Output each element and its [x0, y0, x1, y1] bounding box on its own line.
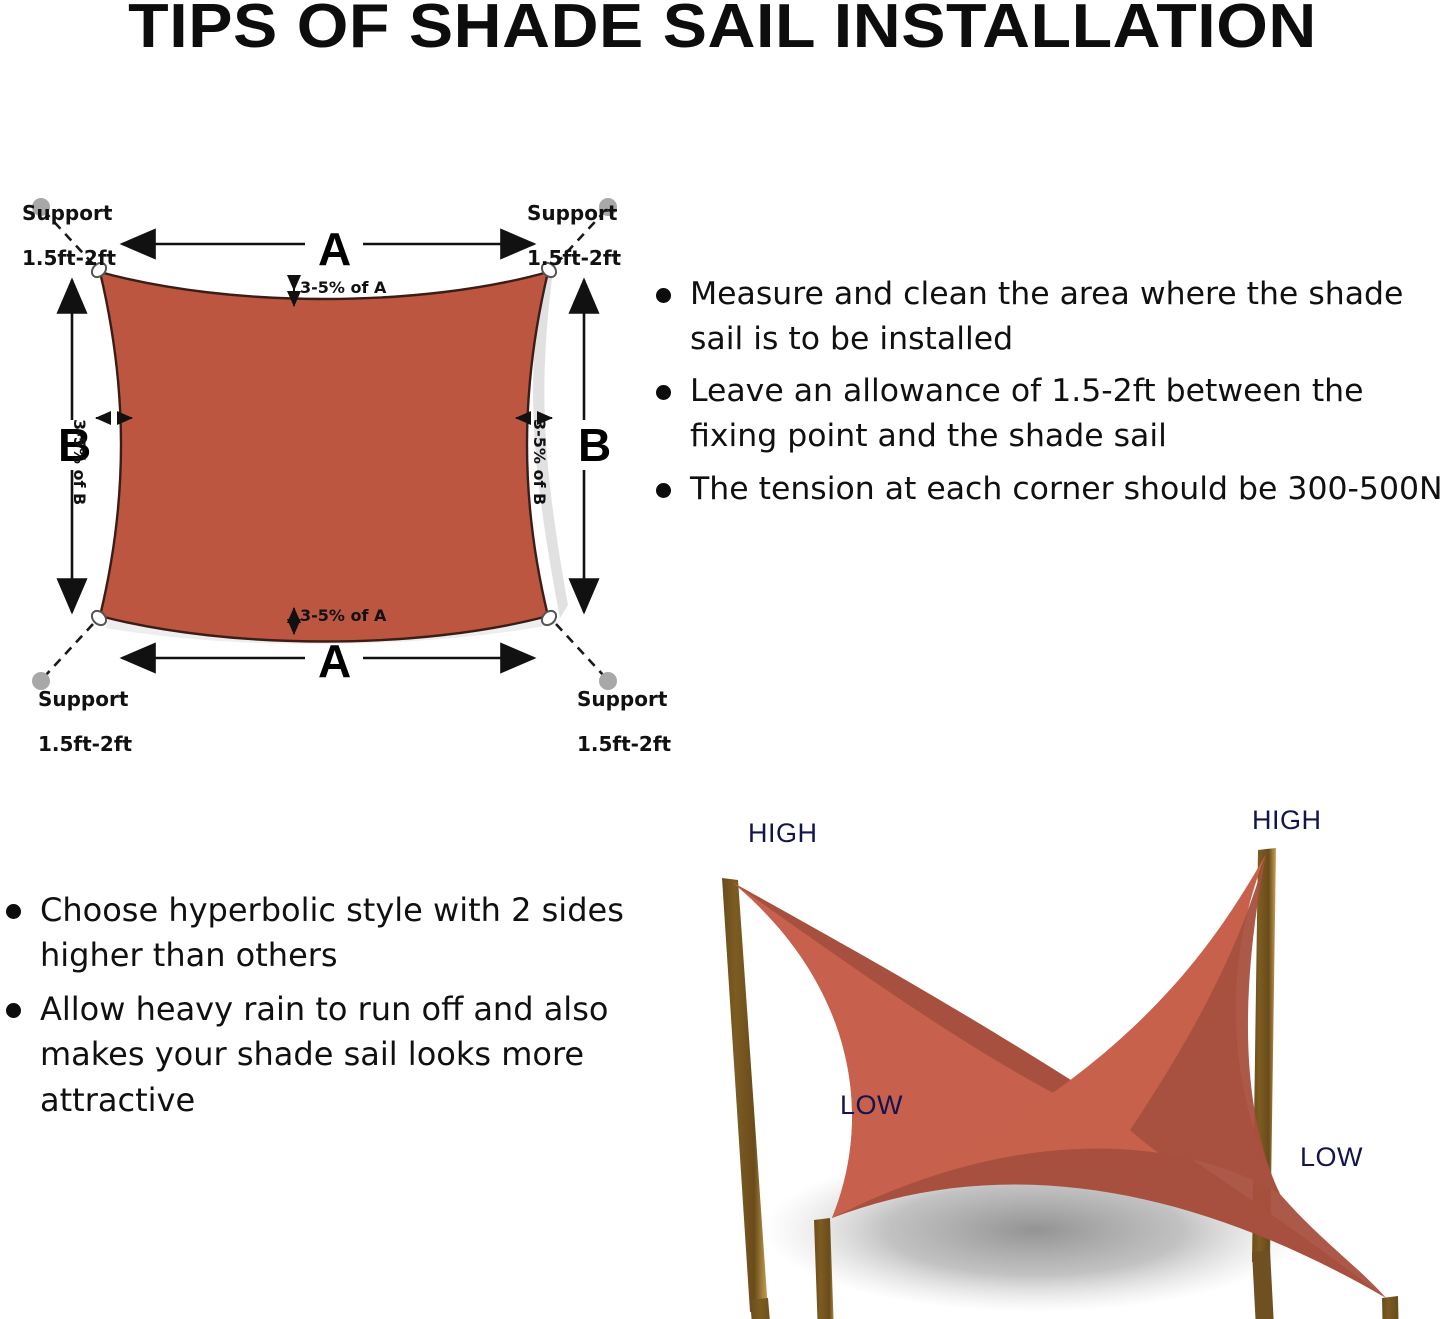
curve-note-left: 3-5% of B — [70, 419, 88, 505]
list-item: Allow heavy rain to run off and also mak… — [0, 987, 625, 1123]
list-item-text: Measure and clean the area where the sha… — [690, 276, 1403, 357]
page-title: TIPS OF SHADE SAIL INSTALLATION — [0, 0, 1445, 59]
bullet-dot — [656, 288, 671, 303]
list-item-text: Leave an allowance of 1.5-2ft between th… — [690, 373, 1364, 454]
list-item-text: Allow heavy rain to run off and also mak… — [40, 990, 608, 1119]
curve-note-right: 3-5% of B — [530, 419, 548, 505]
bullet-dot — [6, 904, 21, 919]
bullet-dot — [656, 385, 671, 400]
support-title: Support — [527, 201, 617, 225]
shade-sail-shape — [100, 272, 548, 642]
support-label-top-left: Support 1.5ft-2ft — [8, 180, 116, 270]
support-distance: 1.5ft-2ft — [38, 732, 132, 756]
curve-note-top: 3-5% of A — [300, 279, 386, 297]
support-title: Support — [38, 687, 128, 711]
post-high-left-lower — [750, 1298, 784, 1319]
label-high-right: HIGH — [1252, 805, 1322, 836]
label-high-left: HIGH — [748, 818, 818, 849]
list-item: Choose hyperbolic style with 2 sides hig… — [0, 888, 625, 979]
dimension-letter-a-bottom: A — [318, 638, 351, 684]
list-item: Leave an allowance of 1.5-2ft between th… — [650, 369, 1445, 458]
support-label-top-right: Support 1.5ft-2ft — [513, 180, 621, 270]
support-label-bottom-right: Support 1.5ft-2ft — [563, 666, 671, 756]
bullet-dot — [6, 1003, 21, 1018]
curve-note-bottom: 3-5% of A — [300, 607, 386, 625]
label-low-left: LOW — [840, 1090, 903, 1121]
label-low-right: LOW — [1300, 1142, 1363, 1173]
support-title: Support — [22, 201, 112, 225]
support-distance: 1.5ft-2ft — [577, 732, 671, 756]
post-extensions — [680, 790, 1445, 1319]
list-item-text: The tension at each corner should be 300… — [690, 471, 1443, 507]
dimension-letter-a-top: A — [318, 226, 351, 272]
tips-list-left: Choose hyperbolic style with 2 sides hig… — [0, 888, 625, 1131]
list-item-text: Choose hyperbolic style with 2 sides hig… — [40, 891, 624, 974]
bullet-dot — [656, 483, 671, 498]
list-item: The tension at each corner should be 300… — [650, 467, 1445, 512]
support-title: Support — [577, 687, 667, 711]
list-item: Measure and clean the area where the sha… — [650, 272, 1445, 361]
dimension-letter-b-right: B — [578, 422, 611, 468]
support-label-bottom-left: Support 1.5ft-2ft — [24, 666, 132, 756]
tips-list-right: Measure and clean the area where the sha… — [650, 272, 1445, 520]
post-high-right-lower — [1252, 1250, 1280, 1319]
support-distance: 1.5ft-2ft — [527, 246, 621, 270]
support-distance: 1.5ft-2ft — [22, 246, 116, 270]
